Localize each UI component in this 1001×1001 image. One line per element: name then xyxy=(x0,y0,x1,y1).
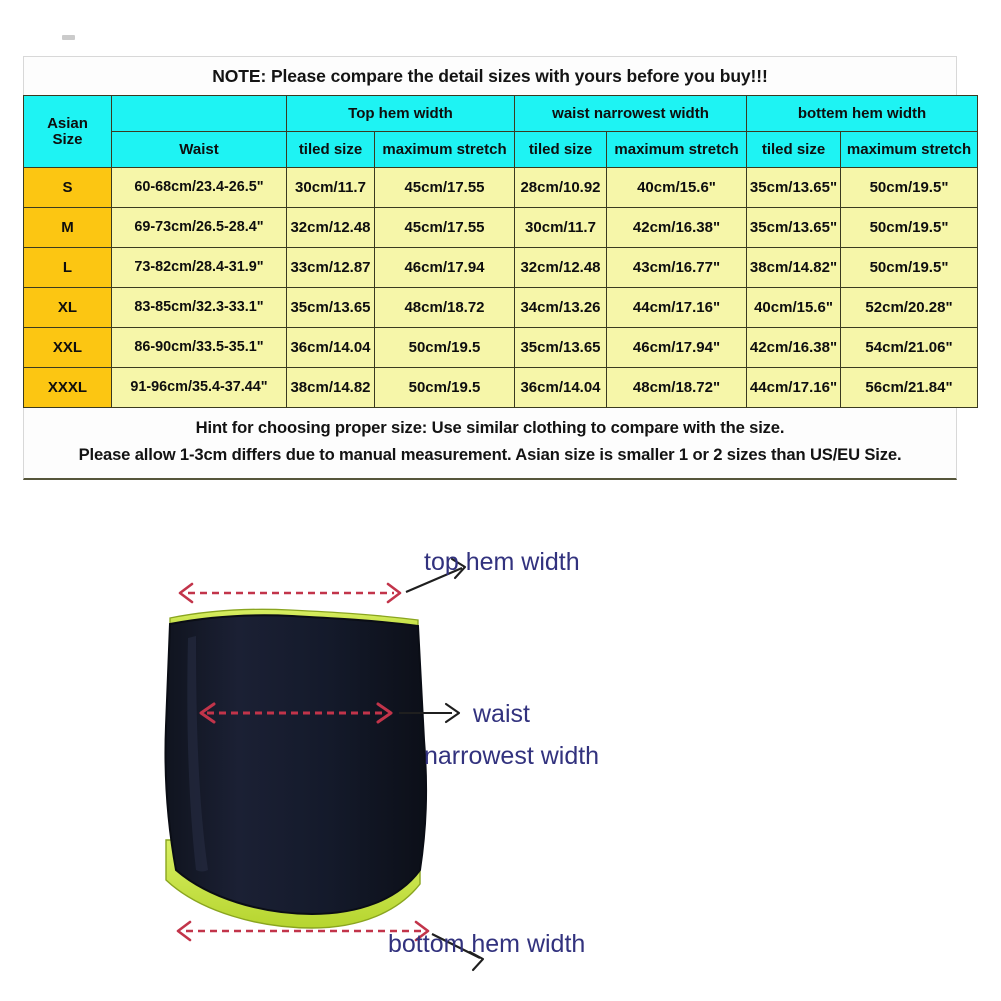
cell-size: XXXL xyxy=(24,368,112,408)
cell-size: L xyxy=(24,248,112,288)
size-chart-table: AsianSize Top hem width waist narrowest … xyxy=(23,95,978,408)
label-narrowest-width: narrowest width xyxy=(424,742,599,771)
cell-waist-tiled: 35cm/13.65 xyxy=(515,328,607,368)
cell-bottom-tiled: 44cm/17.16" xyxy=(747,368,841,408)
asian-size-line1: Asian xyxy=(47,115,88,132)
cell-waist-stretch: 43cm/16.77" xyxy=(607,248,747,288)
cell-bottom-tiled: 35cm/13.65" xyxy=(747,168,841,208)
cell-waist-stretch: 48cm/18.72" xyxy=(607,368,747,408)
table-body: S 60-68cm/23.4-26.5" 30cm/11.7 45cm/17.5… xyxy=(24,168,978,408)
cell-waist-stretch: 42cm/16.38" xyxy=(607,208,747,248)
cell-waist-tiled: 32cm/12.48 xyxy=(515,248,607,288)
column-header-bottom-hem-width: bottem hem width xyxy=(747,96,978,132)
cell-size: XL xyxy=(24,288,112,328)
column-header-waist-tiled-size: tiled size xyxy=(515,132,607,168)
cell-bottom-stretch: 50cm/19.5" xyxy=(841,168,978,208)
cell-waist-stretch: 40cm/15.6" xyxy=(607,168,747,208)
note-text: NOTE: Please compare the detail sizes wi… xyxy=(212,66,767,87)
column-header-waist: Waist xyxy=(112,132,287,168)
cell-bottom-stretch: 52cm/20.28" xyxy=(841,288,978,328)
cell-top-tiled: 30cm/11.7 xyxy=(287,168,375,208)
hint-line-2: Please allow 1-3cm differs due to manual… xyxy=(24,442,956,469)
column-header-top-hem-width: Top hem width xyxy=(287,96,515,132)
note-banner: NOTE: Please compare the detail sizes wi… xyxy=(23,56,957,95)
cell-waist-tiled: 28cm/10.92 xyxy=(515,168,607,208)
label-bottom-hem-width: bottom hem width xyxy=(388,930,585,959)
cell-waist: 73-82cm/28.4-31.9" xyxy=(112,248,287,288)
cell-waist: 83-85cm/32.3-33.1" xyxy=(112,288,287,328)
cell-bottom-tiled: 40cm/15.6" xyxy=(747,288,841,328)
cell-bottom-stretch: 50cm/19.5" xyxy=(841,248,978,288)
cell-top-tiled: 33cm/12.87 xyxy=(287,248,375,288)
cell-waist: 69-73cm/26.5-28.4" xyxy=(112,208,287,248)
cell-waist-tiled: 36cm/14.04 xyxy=(515,368,607,408)
label-top-hem-width: top hem width xyxy=(424,548,580,577)
cell-bottom-tiled: 38cm/14.82" xyxy=(747,248,841,288)
cell-top-stretch: 50cm/19.5 xyxy=(375,328,515,368)
cell-waist: 86-90cm/33.5-35.1" xyxy=(112,328,287,368)
cell-top-stretch: 46cm/17.94 xyxy=(375,248,515,288)
column-header-waist-narrowest-width: waist narrowest width xyxy=(515,96,747,132)
column-header-top-tiled-size: tiled size xyxy=(287,132,375,168)
cell-waist-stretch: 46cm/17.94" xyxy=(607,328,747,368)
column-header-bottom-maximum-stretch: maximum stretch xyxy=(841,132,978,168)
label-waist: waist xyxy=(473,700,530,729)
table-row: XXL 86-90cm/33.5-35.1" 36cm/14.04 50cm/1… xyxy=(24,328,978,368)
hint-banner: Hint for choosing proper size: Use simil… xyxy=(23,408,957,480)
table-row: XXXL 91-96cm/35.4-37.44" 38cm/14.82 50cm… xyxy=(24,368,978,408)
table-row: S 60-68cm/23.4-26.5" 30cm/11.7 45cm/17.5… xyxy=(24,168,978,208)
table-head: AsianSize Top hem width waist narrowest … xyxy=(24,96,978,168)
cell-top-stretch: 50cm/19.5 xyxy=(375,368,515,408)
table-row: XL 83-85cm/32.3-33.1" 35cm/13.65 48cm/18… xyxy=(24,288,978,328)
cell-waist-stretch: 44cm/17.16" xyxy=(607,288,747,328)
column-header-bottom-tiled-size: tiled size xyxy=(747,132,841,168)
cell-size: S xyxy=(24,168,112,208)
hint-line-1: Hint for choosing proper size: Use simil… xyxy=(24,415,956,442)
cell-waist: 91-96cm/35.4-37.44" xyxy=(112,368,287,408)
asian-size-line2: Size xyxy=(52,131,82,148)
cell-top-stretch: 45cm/17.55 xyxy=(375,208,515,248)
column-header-blank xyxy=(112,96,287,132)
cell-top-tiled: 32cm/12.48 xyxy=(287,208,375,248)
top-hem-measure-arrow xyxy=(180,584,400,602)
cell-top-tiled: 36cm/14.04 xyxy=(287,328,375,368)
cell-top-stretch: 45cm/17.55 xyxy=(375,168,515,208)
column-header-asian-size: AsianSize xyxy=(24,96,112,168)
image-artifact-speck xyxy=(62,35,75,40)
cell-waist: 60-68cm/23.4-26.5" xyxy=(112,168,287,208)
column-header-top-maximum-stretch: maximum stretch xyxy=(375,132,515,168)
cell-bottom-stretch: 54cm/21.06" xyxy=(841,328,978,368)
cell-size: M xyxy=(24,208,112,248)
table-header-row-groups: AsianSize Top hem width waist narrowest … xyxy=(24,96,978,132)
cell-top-tiled: 38cm/14.82 xyxy=(287,368,375,408)
cell-bottom-stretch: 56cm/21.84" xyxy=(841,368,978,408)
cell-waist-tiled: 30cm/11.7 xyxy=(515,208,607,248)
cell-top-tiled: 35cm/13.65 xyxy=(287,288,375,328)
cell-bottom-tiled: 42cm/16.38" xyxy=(747,328,841,368)
cell-bottom-tiled: 35cm/13.65" xyxy=(747,208,841,248)
table-row: L 73-82cm/28.4-31.9" 33cm/12.87 46cm/17.… xyxy=(24,248,978,288)
cell-bottom-stretch: 50cm/19.5" xyxy=(841,208,978,248)
cell-waist-tiled: 34cm/13.26 xyxy=(515,288,607,328)
cell-top-stretch: 48cm/18.72 xyxy=(375,288,515,328)
table-header-row-sub: Waist tiled size maximum stretch tiled s… xyxy=(24,132,978,168)
size-chart-block: NOTE: Please compare the detail sizes wi… xyxy=(23,56,957,480)
table-row: M 69-73cm/26.5-28.4" 32cm/12.48 45cm/17.… xyxy=(24,208,978,248)
column-header-waist-maximum-stretch: maximum stretch xyxy=(607,132,747,168)
cell-size: XXL xyxy=(24,328,112,368)
